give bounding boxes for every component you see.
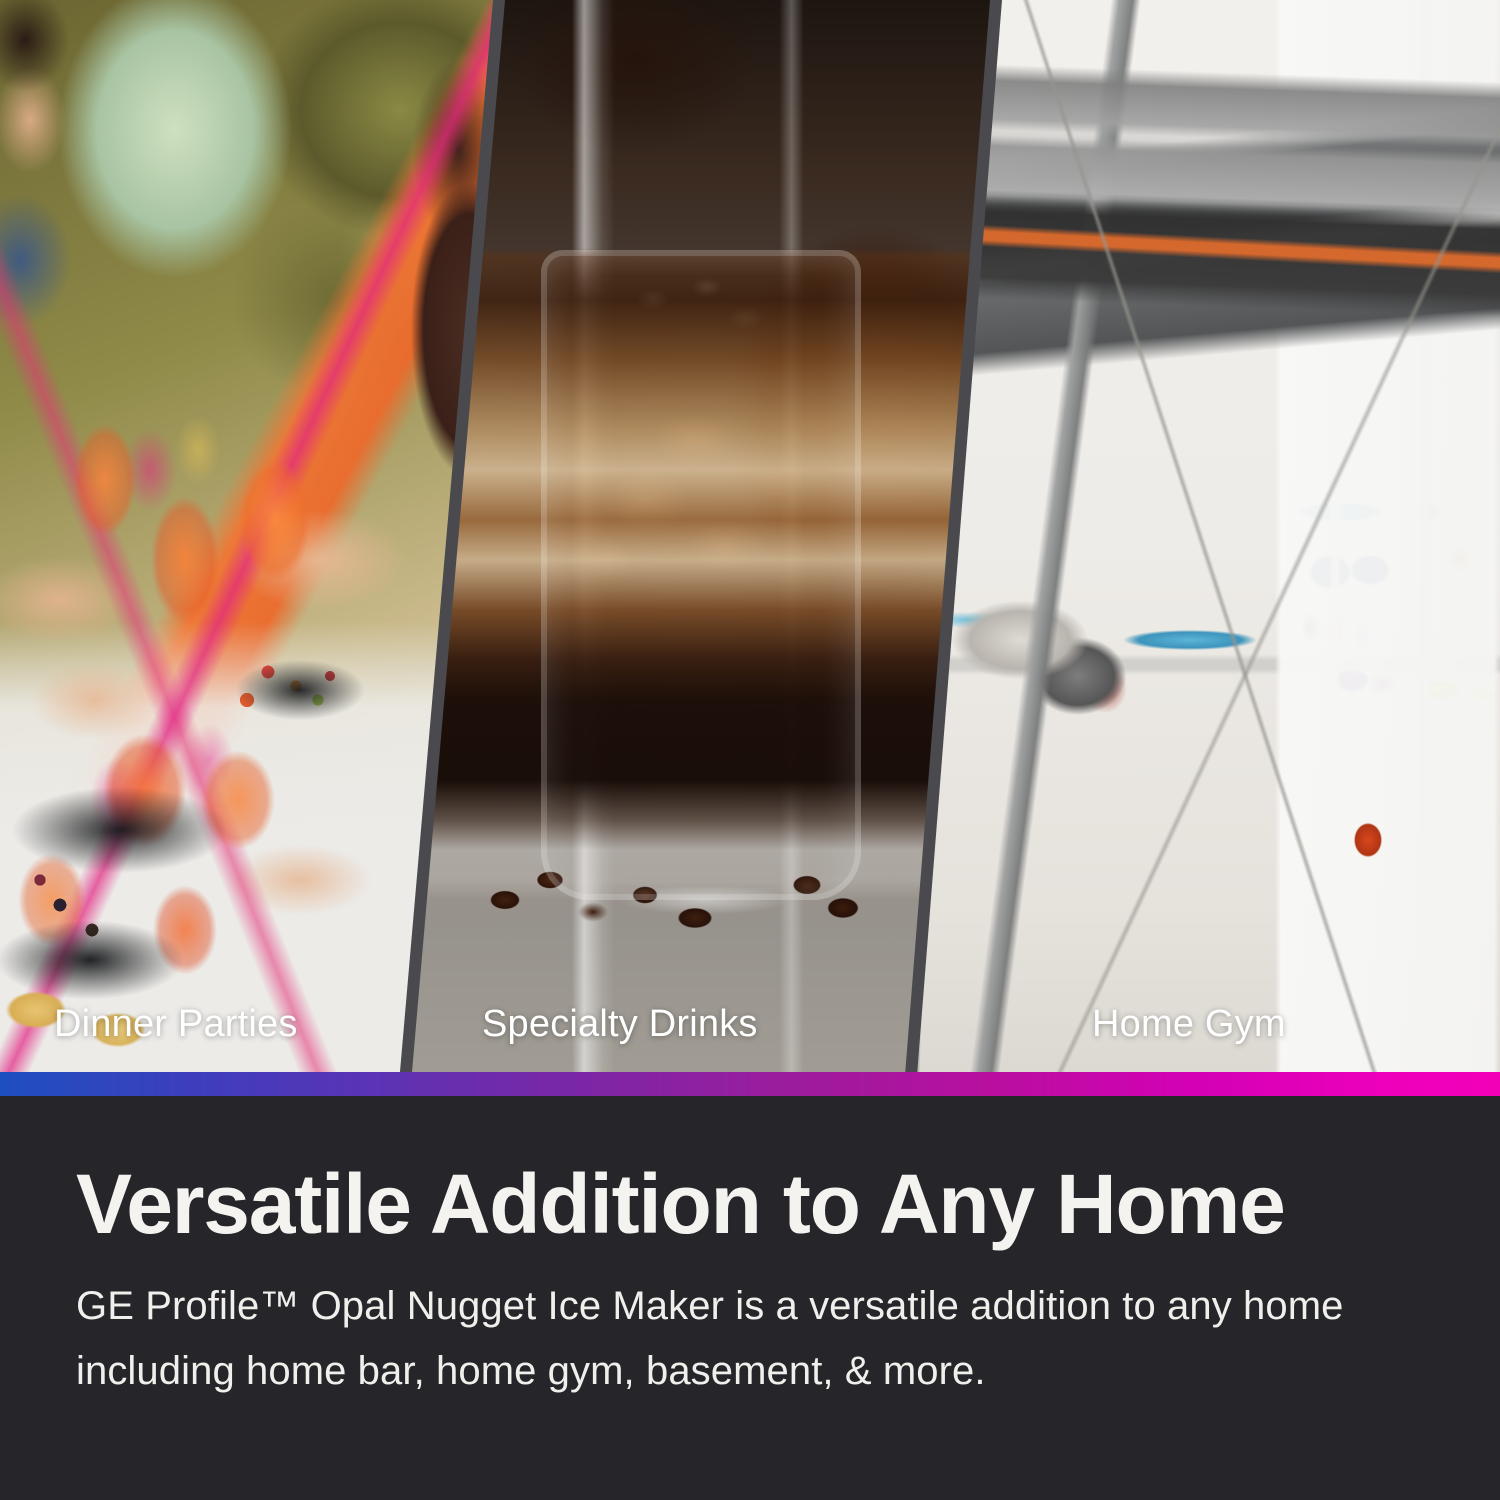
footer-body-copy: GE Profile™ Opal Nugget Ice Maker is a v… (76, 1274, 1424, 1404)
gallery-panel-home-gym (900, 0, 1500, 1072)
drinking-glass-shape (541, 250, 861, 900)
caption-home-gym: Home Gym (1092, 1003, 1286, 1046)
caption-specialty-drinks: Specialty Drinks (482, 1003, 758, 1046)
image-gallery: Dinner Parties Specialty Drinks Home Gym (0, 0, 1500, 1072)
footer-text-block: Versatile Addition to Any Home GE Profil… (0, 1096, 1500, 1500)
footer-headline: Versatile Addition to Any Home (76, 1162, 1436, 1246)
home-gym-photo (900, 0, 1500, 1072)
promo-card: Dinner Parties Specialty Drinks Home Gym… (0, 0, 1500, 1500)
gradient-accent-bar (0, 1072, 1500, 1096)
caption-dinner-parties: Dinner Parties (54, 1003, 298, 1046)
